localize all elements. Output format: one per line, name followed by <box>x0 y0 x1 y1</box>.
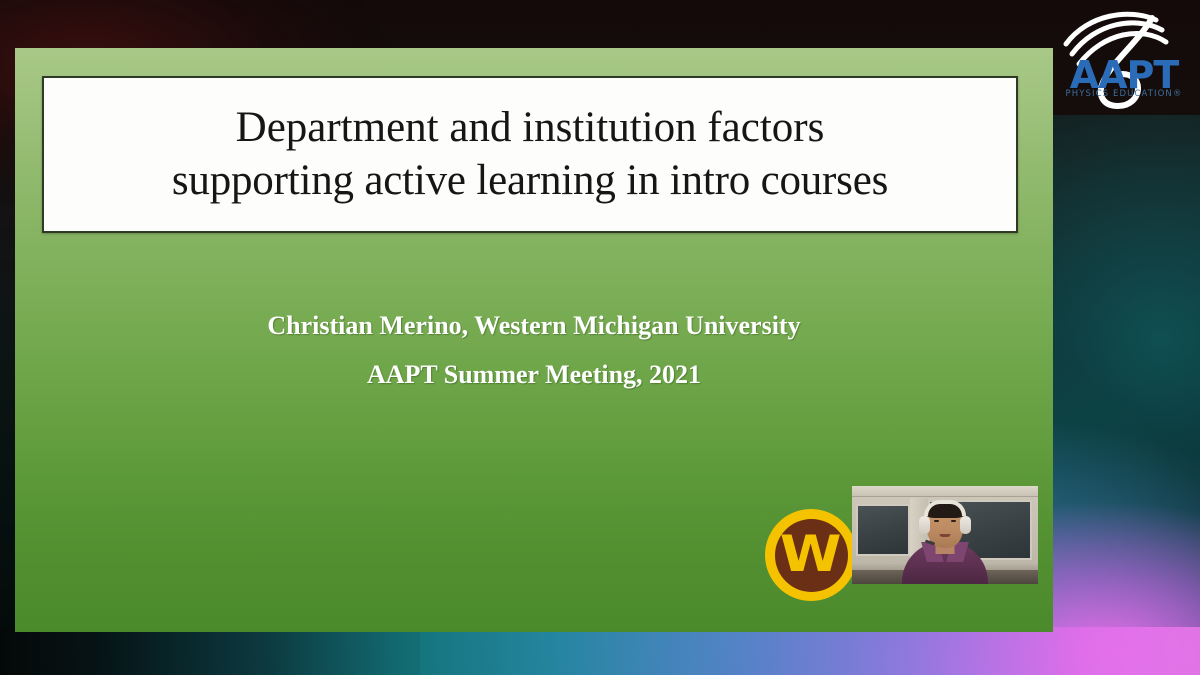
webcam-headphone-band <box>924 500 966 516</box>
backdrop-bottom-strip <box>0 627 1200 675</box>
webcam-person-eye-left <box>934 520 939 522</box>
slide-author-line: Christian Merino, Western Michigan Unive… <box>15 313 1053 339</box>
slide-event-line: AAPT Summer Meeting, 2021 <box>15 362 1053 388</box>
webcam-person-eye-right <box>951 520 956 522</box>
slide-title-line-1: Department and institution factors <box>236 102 825 154</box>
video-canvas: AAPT PHYSICS EDUCATION® Department and i… <box>0 0 1200 675</box>
aapt-tagline: PHYSICS EDUCATION® <box>1056 90 1192 99</box>
webcam-headphone-earcup-right <box>960 516 971 534</box>
wmu-seal-letter: W <box>780 529 842 579</box>
aapt-logo: AAPT PHYSICS EDUCATION® <box>1052 2 1192 110</box>
slide-title-box: Department and institution factors suppo… <box>42 76 1018 233</box>
wmu-seal-icon: W <box>765 509 857 601</box>
webcam-person-mouth <box>940 534 951 537</box>
slide-title-line-2: supporting active learning in intro cour… <box>172 155 888 207</box>
wmu-seal-inner: W <box>775 519 848 592</box>
webcam-bg-chalkboard-left <box>856 504 910 556</box>
slide-subtitle-block: Christian Merino, Western Michigan Unive… <box>15 313 1053 411</box>
webcam-bg-ceiling <box>852 486 1038 497</box>
webcam-headphone-earcup-left <box>919 516 930 534</box>
presenter-webcam-pip[interactable] <box>852 486 1038 584</box>
webcam-video-frame <box>852 486 1038 584</box>
